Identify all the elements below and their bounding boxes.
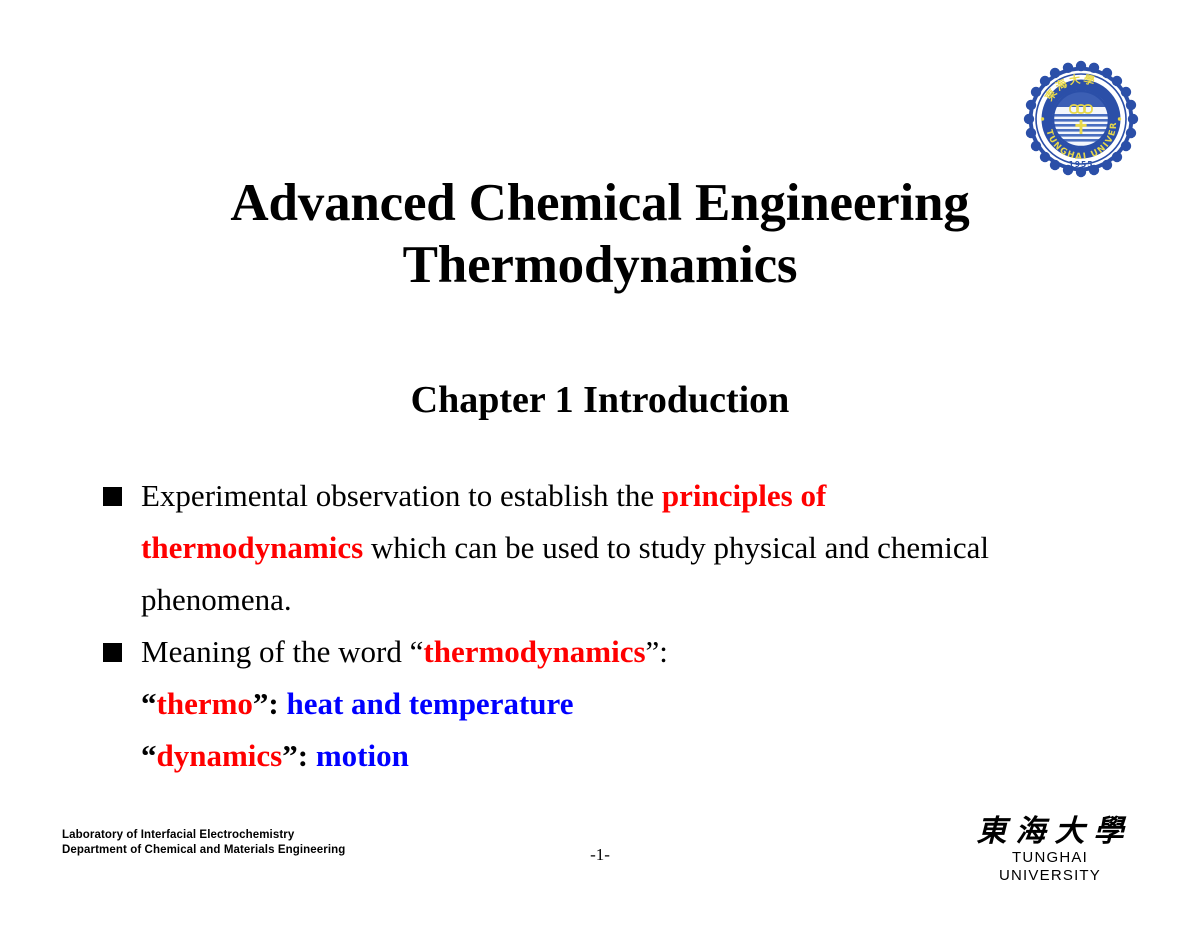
chapter-heading: Chapter 1 Introduction xyxy=(0,378,1200,422)
bullet-1-seg-1: Experimental observation to establish th… xyxy=(141,478,662,513)
bullet-item-1: Experimental observation to establish th… xyxy=(103,470,1033,626)
sub-line-1-meaning: heat and temperature xyxy=(286,686,573,721)
square-bullet-icon xyxy=(103,487,122,506)
title-line-2: Thermodynamics xyxy=(0,234,1200,296)
footer-lab-line: Laboratory of Interfacial Electrochemist… xyxy=(62,828,345,843)
bullet-2-seg-2: thermodynamics xyxy=(423,634,645,669)
bullet-item-2: Meaning of the word “thermodynamics”: xyxy=(103,626,1033,678)
sub-line-2-term: dynamics xyxy=(157,738,283,773)
bullet-item-1-text: Experimental observation to establish th… xyxy=(141,470,1033,626)
sub-line-1-term: thermo xyxy=(157,686,253,721)
footer-logo-cjk-text: 東海大學 xyxy=(960,815,1140,849)
tunghai-university-seal-icon: TUNGHAI UNIVERSITY 東海大學 1955 xyxy=(1022,58,1140,180)
sub-line-2-close-quote: ”: xyxy=(282,738,316,773)
title-line-1: Advanced Chemical Engineering xyxy=(0,172,1200,234)
bullet-2-seg-3: ”: xyxy=(646,634,668,669)
svg-text:1955: 1955 xyxy=(1069,160,1094,169)
sub-line-1-close-quote: ”: xyxy=(253,686,287,721)
slide-body: Experimental observation to establish th… xyxy=(103,470,1033,782)
footer-university-logo: 東海大學 TUNGHAI UNIVERSITY xyxy=(960,815,1140,885)
bullet-item-2-text: Meaning of the word “thermodynamics”: xyxy=(141,626,1033,678)
sub-line-2-open-quote: “ xyxy=(141,738,157,773)
sub-line-thermo: “thermo”: heat and temperature xyxy=(141,678,1033,730)
sub-line-dynamics: “dynamics”: motion xyxy=(141,730,1033,782)
bullet-2-seg-1: Meaning of the word “ xyxy=(141,634,423,669)
sub-line-1-open-quote: “ xyxy=(141,686,157,721)
footer-logo-en-text: TUNGHAI UNIVERSITY xyxy=(960,849,1140,885)
sub-line-2-meaning: motion xyxy=(316,738,409,773)
slide-canvas: TUNGHAI UNIVERSITY 東海大學 1955 xyxy=(0,0,1200,927)
slide-title: Advanced Chemical Engineering Thermodyna… xyxy=(0,172,1200,296)
square-bullet-icon xyxy=(103,643,122,662)
